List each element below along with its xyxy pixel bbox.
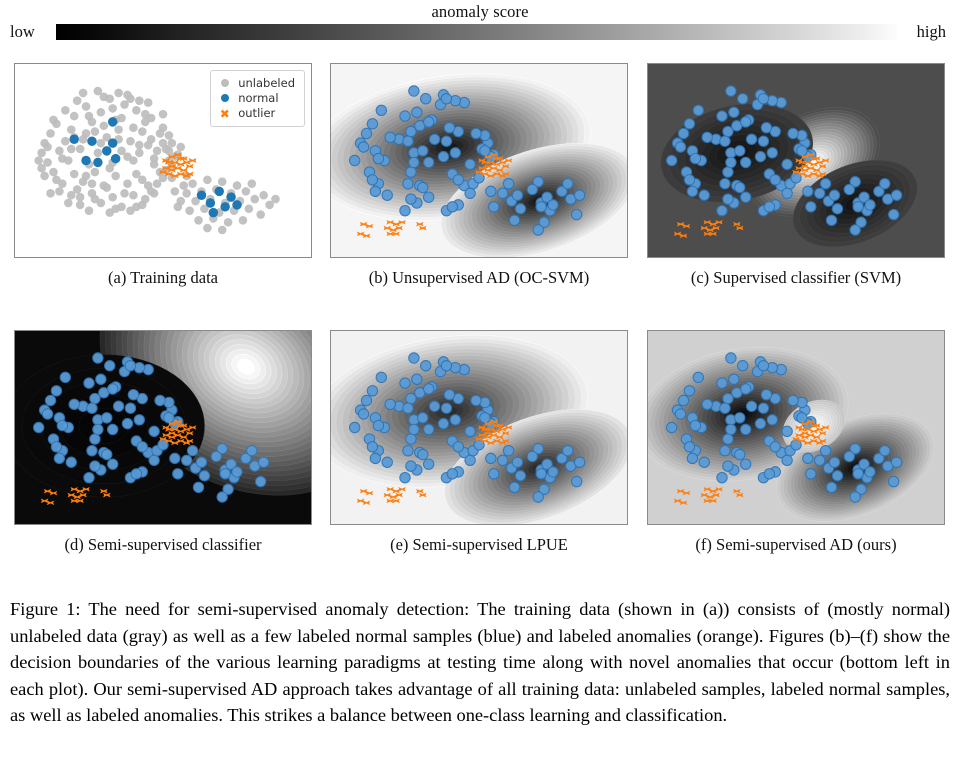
data-point: [806, 202, 816, 212]
data-point: [465, 455, 475, 465]
data-point: [193, 482, 203, 492]
data-point: [403, 403, 413, 413]
data-point: [37, 164, 46, 173]
data-point: [574, 457, 584, 467]
data-point: [108, 193, 117, 202]
data-point: [424, 424, 434, 434]
colorbar-low-label: low: [10, 22, 35, 42]
data-point: [247, 445, 257, 455]
data-point: [480, 413, 490, 423]
data-point: [385, 132, 395, 142]
unlabeled-marker-icon: [218, 76, 231, 91]
data-point: [164, 413, 174, 423]
data-point: [764, 469, 774, 479]
data-point: [93, 353, 103, 363]
data-point: [51, 386, 61, 396]
data-point: [687, 186, 697, 196]
data-point: [156, 129, 165, 138]
data-point: [755, 418, 765, 428]
data-point: [42, 409, 52, 419]
data-point: [409, 157, 419, 167]
data-point: [400, 472, 410, 482]
data-point: [144, 141, 153, 150]
data-point: [242, 187, 251, 196]
data-point: [400, 378, 410, 388]
data-point: [820, 445, 830, 455]
legend: unlabeled normal ✖ outlier: [210, 70, 305, 127]
data-point: [123, 179, 132, 188]
data-point: [450, 148, 460, 158]
data-point: [232, 467, 242, 477]
data-point: [720, 403, 730, 413]
data-point: [741, 459, 751, 469]
data-point: [46, 129, 55, 138]
data-point: [108, 138, 117, 148]
data-point: [138, 127, 147, 136]
data-point: [159, 139, 168, 148]
data-point: [76, 201, 85, 210]
data-point: [211, 451, 221, 461]
data-point: [572, 209, 582, 219]
data-point: [209, 208, 218, 218]
data-point: [34, 422, 44, 432]
data-point: [203, 175, 212, 184]
data-point: [723, 434, 733, 444]
data-point: [424, 192, 434, 202]
data-point: [400, 205, 410, 215]
data-point: [678, 128, 688, 138]
data-point: [438, 151, 448, 161]
data-point: [179, 181, 188, 190]
data-point: [829, 457, 839, 467]
data-point: [199, 471, 209, 481]
data-point: [723, 461, 733, 471]
data-point: [233, 181, 242, 190]
data-point: [85, 112, 94, 121]
data-point: [447, 469, 457, 479]
data-point: [400, 111, 410, 121]
data-point: [424, 117, 434, 127]
data-point: [741, 192, 751, 202]
data-point: [367, 442, 377, 452]
data-point: [687, 453, 697, 463]
panel-e-semisupervised-lpue: [330, 330, 628, 525]
panel-f-semisupervised-ad: [647, 330, 945, 525]
data-point: [758, 94, 768, 104]
data-point: [447, 202, 457, 212]
data-point: [73, 185, 82, 194]
data-point: [815, 188, 825, 198]
data-point: [421, 361, 431, 371]
figure-caption: Figure 1: The need for semi-supervised a…: [10, 596, 950, 729]
data-point: [782, 455, 792, 465]
data-point: [826, 482, 836, 492]
data-point: [865, 200, 875, 210]
data-point: [258, 457, 268, 467]
data-point: [684, 119, 694, 129]
data-point: [196, 457, 206, 467]
data-point: [239, 216, 248, 225]
colorbar-high-label: high: [917, 22, 946, 42]
data-point: [717, 378, 727, 388]
data-point: [403, 178, 413, 188]
data-point: [788, 128, 798, 138]
data-point: [803, 186, 813, 196]
data-point: [406, 167, 416, 177]
data-point: [684, 175, 694, 185]
data-point: [441, 94, 451, 104]
legend-item-normal: normal: [218, 91, 295, 106]
data-point: [536, 202, 546, 212]
data-point: [93, 158, 102, 168]
data-point: [889, 209, 899, 219]
data-point: [108, 459, 118, 469]
data-point: [123, 152, 132, 161]
data-point: [108, 424, 118, 434]
data-point: [515, 471, 525, 481]
data-point: [49, 168, 58, 177]
legend-label-unlabeled: unlabeled: [238, 76, 295, 91]
data-point: [717, 472, 727, 482]
data-point: [61, 106, 70, 115]
data-point: [73, 96, 82, 105]
data-point: [453, 442, 463, 452]
data-point: [165, 147, 174, 156]
data-point: [880, 445, 890, 455]
data-point: [194, 216, 203, 225]
data-point: [102, 146, 111, 156]
data-point: [84, 378, 94, 388]
data-point: [132, 203, 141, 212]
data-point: [844, 451, 854, 461]
data-point: [144, 98, 153, 107]
data-point: [87, 136, 96, 146]
data-point: [797, 146, 807, 156]
data-point: [829, 190, 839, 200]
data-point: [441, 403, 451, 413]
normal-marker-icon: [218, 91, 231, 106]
data-point: [826, 215, 836, 225]
data-point: [85, 206, 94, 215]
data-point: [108, 384, 118, 394]
data-point: [220, 202, 229, 212]
data-point: [788, 395, 798, 405]
data-point: [720, 178, 730, 188]
data-point: [102, 449, 112, 459]
data-point: [256, 476, 266, 486]
data-point: [429, 134, 439, 144]
data-point: [61, 137, 70, 146]
data-point: [675, 142, 685, 152]
data-point: [699, 457, 709, 467]
data-point: [418, 413, 428, 423]
data-point: [891, 190, 901, 200]
data-point: [667, 155, 677, 165]
data-point: [370, 186, 380, 196]
data-point: [57, 420, 67, 430]
legend-label-normal: normal: [238, 91, 278, 106]
data-point: [58, 154, 67, 163]
data-point: [444, 122, 454, 132]
data-point: [170, 453, 180, 463]
data-point: [137, 442, 147, 452]
data-point: [548, 467, 558, 477]
data-point: [220, 469, 230, 479]
data-point: [533, 492, 543, 502]
data-point: [69, 399, 79, 409]
data-point: [758, 403, 768, 413]
data-point: [373, 420, 383, 430]
data-point: [699, 190, 709, 200]
data-point: [850, 492, 860, 502]
data-point: [358, 409, 368, 419]
panel-b-plot: [331, 64, 627, 257]
data-point: [441, 361, 451, 371]
data-point: [245, 204, 254, 213]
data-point: [125, 403, 135, 413]
data-point: [94, 148, 103, 157]
data-point: [128, 389, 138, 399]
figure-caption-text: The need for semi-supervised anomaly det…: [10, 599, 950, 725]
data-point: [141, 110, 150, 119]
data-point: [122, 418, 132, 428]
data-point: [806, 469, 816, 479]
panel-d-semisupervised-classifier: [14, 330, 312, 525]
data-point: [271, 195, 280, 204]
data-point: [43, 143, 52, 152]
data-point: [105, 164, 114, 173]
data-point: [509, 482, 519, 492]
data-point: [515, 204, 525, 214]
data-point: [55, 187, 64, 196]
data-point: [684, 386, 694, 396]
data-point: [693, 372, 703, 382]
data-point: [232, 200, 241, 210]
data-point: [141, 195, 150, 204]
data-point: [94, 87, 103, 96]
data-point: [512, 457, 522, 467]
data-point: [114, 89, 123, 98]
data-point: [832, 471, 842, 481]
data-point: [406, 194, 416, 204]
data-point: [188, 179, 197, 188]
panel-e-plot: [331, 331, 627, 524]
data-point: [91, 195, 100, 204]
data-point: [129, 123, 138, 132]
data-point: [741, 117, 751, 127]
data-point: [563, 445, 573, 455]
data-point: [135, 141, 144, 150]
data-point: [97, 139, 106, 148]
data-point: [108, 104, 117, 113]
data-point: [114, 125, 123, 134]
data-point: [746, 134, 756, 144]
panel-f-plot: [648, 331, 944, 524]
data-point: [678, 395, 688, 405]
data-point: [453, 175, 463, 185]
data-point: [97, 108, 106, 117]
data-point: [735, 182, 745, 192]
data-point: [412, 107, 422, 117]
data-point: [832, 204, 842, 214]
data-point: [726, 86, 736, 96]
data-point: [527, 451, 537, 461]
data-point: [111, 204, 120, 213]
data-point: [135, 96, 144, 105]
panel-b-caption: (b) Unsupervised AD (OC-SVM): [330, 268, 628, 288]
data-point: [465, 426, 475, 436]
data-point: [358, 142, 368, 152]
data-point: [171, 187, 180, 196]
data-point: [503, 445, 513, 455]
data-point: [206, 198, 215, 208]
data-point: [382, 190, 392, 200]
data-point: [717, 205, 727, 215]
data-point: [498, 455, 508, 465]
data-point: [120, 189, 129, 198]
data-point: [187, 445, 197, 455]
data-point: [782, 426, 792, 436]
data-point: [412, 374, 422, 384]
panel-a-caption: (a) Training data: [14, 268, 312, 288]
panel-c-supervised-classifier: [647, 63, 945, 258]
data-point: [690, 420, 700, 430]
data-point: [135, 148, 144, 157]
data-point: [84, 472, 94, 482]
data-point: [782, 159, 792, 169]
data-point: [52, 175, 61, 184]
data-point: [735, 413, 745, 423]
data-point: [797, 413, 807, 423]
data-point: [738, 94, 748, 104]
data-point: [489, 469, 499, 479]
data-point: [259, 191, 268, 200]
figure-page: anomaly score low high unlabeled normal …: [0, 0, 960, 760]
data-point: [376, 372, 386, 382]
data-point: [138, 175, 147, 184]
data-point: [853, 469, 863, 479]
data-point: [418, 182, 428, 192]
data-point: [91, 168, 100, 177]
data-point: [480, 146, 490, 156]
data-point: [767, 148, 777, 158]
data-point: [218, 177, 227, 186]
data-point: [548, 200, 558, 210]
colorbar: anomaly score low high: [0, 0, 960, 52]
data-point: [182, 189, 191, 198]
data-point: [782, 188, 792, 198]
legend-item-unlabeled: unlabeled: [218, 76, 295, 91]
data-point: [203, 224, 212, 233]
data-point: [761, 122, 771, 132]
data-point: [218, 226, 227, 235]
data-point: [376, 105, 386, 115]
data-point: [471, 128, 481, 138]
data-point: [770, 175, 780, 185]
data-point: [667, 422, 677, 432]
data-point: [717, 111, 727, 121]
data-point: [424, 157, 434, 167]
data-point: [409, 86, 419, 96]
data-point: [675, 409, 685, 419]
data-point: [69, 135, 78, 145]
data-point: [45, 395, 55, 405]
data-point: [803, 453, 813, 463]
data-point: [100, 121, 109, 130]
data-point: [134, 415, 144, 425]
data-point: [406, 461, 416, 471]
data-point: [55, 147, 64, 156]
data-point: [361, 395, 371, 405]
data-point: [536, 469, 546, 479]
data-point: [533, 225, 543, 235]
data-point: [498, 188, 508, 198]
data-point: [702, 132, 712, 142]
data-point: [690, 153, 700, 163]
data-point: [149, 426, 159, 436]
data-point: [746, 401, 756, 411]
data-point: [367, 119, 377, 129]
data-point: [224, 218, 233, 227]
data-point: [182, 455, 192, 465]
data-point: [367, 386, 377, 396]
data-point: [370, 453, 380, 463]
data-point: [197, 190, 206, 200]
data-point: [87, 403, 97, 413]
data-point: [755, 151, 765, 161]
data-point: [844, 184, 854, 194]
data-point: [406, 434, 416, 444]
data-point: [165, 131, 174, 140]
legend-label-outlier: outlier: [238, 106, 275, 121]
data-point: [726, 353, 736, 363]
data-point: [147, 187, 156, 196]
data-point: [248, 179, 257, 188]
data-point: [159, 110, 168, 119]
data-point: [70, 112, 79, 121]
data-point: [153, 147, 162, 156]
panel-d-caption: (d) Semi-supervised classifier: [14, 535, 312, 555]
data-point: [67, 145, 76, 154]
data-point: [450, 415, 460, 425]
data-point: [421, 94, 431, 104]
data-point: [82, 172, 91, 181]
data-point: [726, 424, 736, 434]
data-point: [865, 467, 875, 477]
data-point: [418, 449, 428, 459]
data-point: [761, 389, 771, 399]
data-point: [758, 361, 768, 371]
panel-f-caption: (f) Semi-supervised AD (ours): [647, 535, 945, 555]
panel-c-caption: (c) Supervised classifier (SVM): [647, 268, 945, 288]
data-point: [471, 395, 481, 405]
panel-c-plot: [648, 64, 944, 257]
data-point: [729, 107, 739, 117]
data-point: [132, 106, 141, 115]
data-point: [465, 188, 475, 198]
data-point: [409, 424, 419, 434]
data-point: [76, 145, 85, 154]
data-point: [486, 186, 496, 196]
data-point: [51, 442, 61, 452]
panel-a-training-data: unlabeled normal ✖ outlier: [14, 63, 312, 258]
data-point: [111, 172, 120, 181]
data-point: [76, 193, 85, 202]
data-point: [574, 190, 584, 200]
data-point: [117, 114, 126, 123]
data-point: [90, 434, 100, 444]
data-point: [350, 422, 360, 432]
